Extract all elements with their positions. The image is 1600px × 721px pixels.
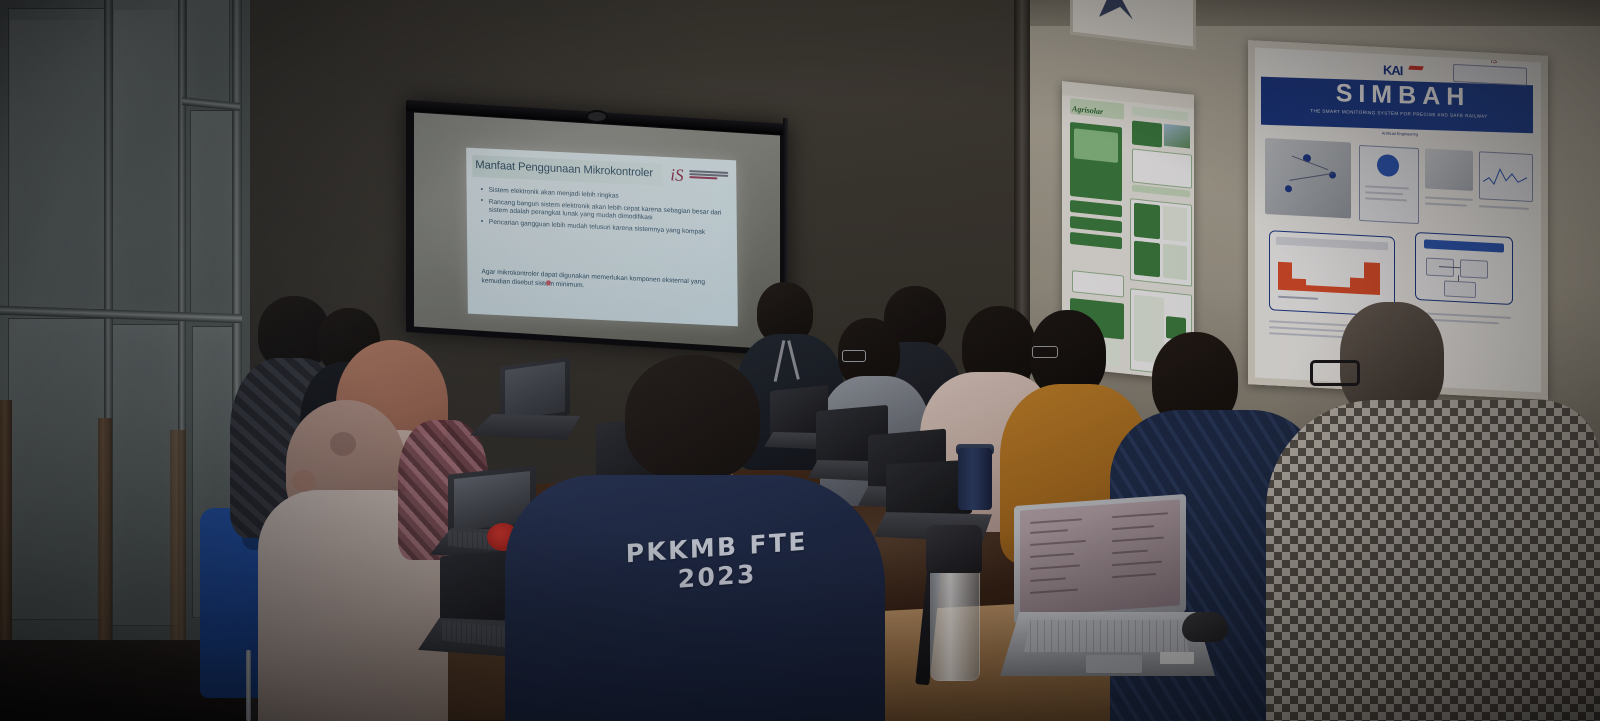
slide-bullet-list: Sistem elektronik akan menjadi lebih rin…	[481, 186, 727, 242]
screen-pull-knob	[586, 110, 608, 123]
foreground-attendee: PKKMB FTE 2023	[505, 355, 885, 721]
laptop-screen	[1020, 499, 1180, 616]
presentation-slide: Manfaat Penggunaan Mikrokontroler iS Sis…	[466, 148, 738, 327]
laptop-foreground[interactable]	[1000, 500, 1215, 680]
laptop-sticker	[1160, 652, 1194, 664]
logo-swoosh-icon	[1099, 0, 1133, 21]
laptop-keyboard[interactable]	[1024, 620, 1189, 652]
navy-jacket	[505, 475, 885, 721]
chair-stem	[246, 650, 251, 721]
laptop-trackpad[interactable]	[1086, 655, 1142, 673]
head	[625, 355, 760, 480]
bottle-cap[interactable]	[926, 525, 982, 573]
eyeglasses-icon	[1310, 360, 1360, 386]
poster-kai-brand: KAI	[1383, 62, 1402, 78]
intelligent-sensing-logo: iS	[670, 166, 728, 188]
logo-wordmark	[689, 170, 728, 182]
eyeglasses-icon	[1032, 346, 1058, 358]
bottle-body	[930, 569, 980, 681]
logo-mark-icon: iS	[670, 166, 687, 185]
computer-mouse[interactable]	[1182, 612, 1228, 642]
water-bottle[interactable]	[920, 525, 988, 680]
slide-closing-note: Agar mikrokontroler dapat digunakan meme…	[481, 268, 723, 297]
photo-scene: Agrisolar ◉ Telkom iS KAI SIMBAH THE SMA…	[0, 0, 1600, 721]
insulated-tumbler[interactable]	[958, 448, 992, 510]
waveform-icon	[1483, 159, 1527, 191]
mouse-cursor-icon	[546, 280, 550, 285]
